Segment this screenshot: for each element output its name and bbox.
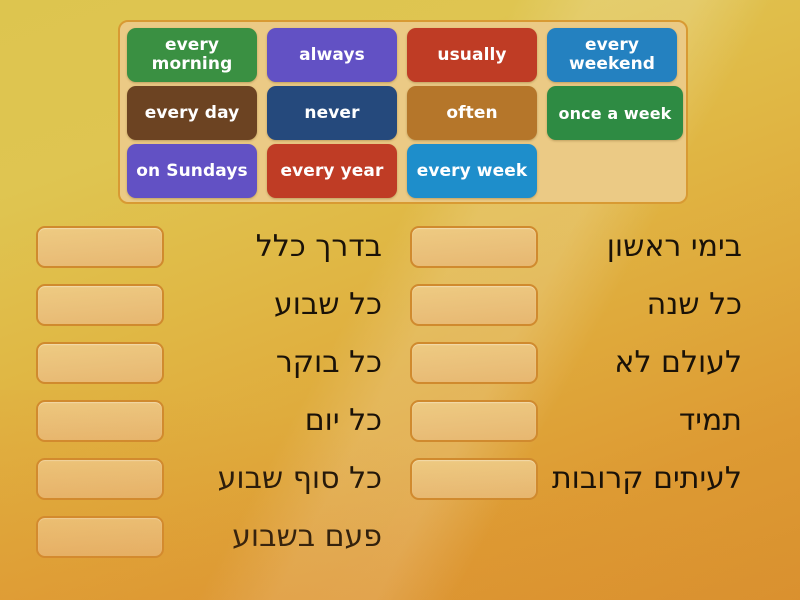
dropzone[interactable] — [410, 458, 538, 500]
tile-often[interactable]: often — [407, 86, 537, 140]
dropzone[interactable] — [36, 284, 164, 326]
answer-term: כל יום — [164, 404, 384, 438]
answer-column-left: בדרך כלל כל שבוע כל בוקר כל יום כל סוף ש… — [0, 218, 400, 566]
answer-row: כל שנה — [410, 276, 744, 334]
answer-row: לעיתים קרובות — [410, 450, 744, 508]
tile-row: every day never often once a week — [127, 86, 679, 140]
answer-row: כל שבוע — [36, 276, 384, 334]
answer-row: לעולם לא — [410, 334, 744, 392]
dropzone[interactable] — [410, 342, 538, 384]
tile-tray: every morning always usually every weeke… — [118, 20, 688, 204]
answer-column-right: בימי ראשון כל שנה לעולם לא תמיד לעיתים ק… — [400, 218, 800, 566]
tile-every-day[interactable]: every day — [127, 86, 257, 140]
answer-term: כל שבוע — [164, 288, 384, 322]
dropzone[interactable] — [410, 226, 538, 268]
answer-term: פעם בשבוע — [164, 520, 384, 554]
tile-once-a-week[interactable]: once a week — [547, 86, 683, 140]
activity-canvas: every morning always usually every weeke… — [0, 0, 800, 600]
tile-usually[interactable]: usually — [407, 28, 537, 82]
answer-row: תמיד — [410, 392, 744, 450]
tile-every-year[interactable]: every year — [267, 144, 397, 198]
tile-row: on Sundays every year every week — [127, 144, 679, 198]
answer-term: לעולם לא — [538, 346, 744, 380]
answer-term: תמיד — [538, 404, 744, 438]
tile-always[interactable]: always — [267, 28, 397, 82]
answer-row: פעם בשבוע — [36, 508, 384, 566]
dropzone[interactable] — [36, 516, 164, 558]
dropzone[interactable] — [36, 458, 164, 500]
answer-term: בימי ראשון — [538, 230, 744, 264]
answer-row: בדרך כלל — [36, 218, 384, 276]
answer-row: כל סוף שבוע — [36, 450, 384, 508]
answer-term: בדרך כלל — [164, 230, 384, 264]
dropzone[interactable] — [36, 226, 164, 268]
answer-row: כל יום — [36, 392, 384, 450]
answer-term: כל שנה — [538, 288, 744, 322]
tile-never[interactable]: never — [267, 86, 397, 140]
answer-row: כל בוקר — [36, 334, 384, 392]
dropzone[interactable] — [410, 400, 538, 442]
answer-term: כל סוף שבוע — [164, 462, 384, 496]
dropzone[interactable] — [36, 400, 164, 442]
answer-area: בדרך כלל כל שבוע כל בוקר כל יום כל סוף ש… — [0, 218, 800, 566]
dropzone[interactable] — [410, 284, 538, 326]
answer-term: כל בוקר — [164, 346, 384, 380]
tile-every-morning[interactable]: every morning — [127, 28, 257, 82]
answer-term: לעיתים קרובות — [538, 462, 744, 496]
answer-row: בימי ראשון — [410, 218, 744, 276]
tile-empty-slot — [547, 144, 677, 198]
tile-on-sundays[interactable]: on Sundays — [127, 144, 257, 198]
tile-every-weekend[interactable]: every weekend — [547, 28, 677, 82]
tile-every-week[interactable]: every week — [407, 144, 537, 198]
dropzone[interactable] — [36, 342, 164, 384]
tile-row: every morning always usually every weeke… — [127, 28, 679, 82]
